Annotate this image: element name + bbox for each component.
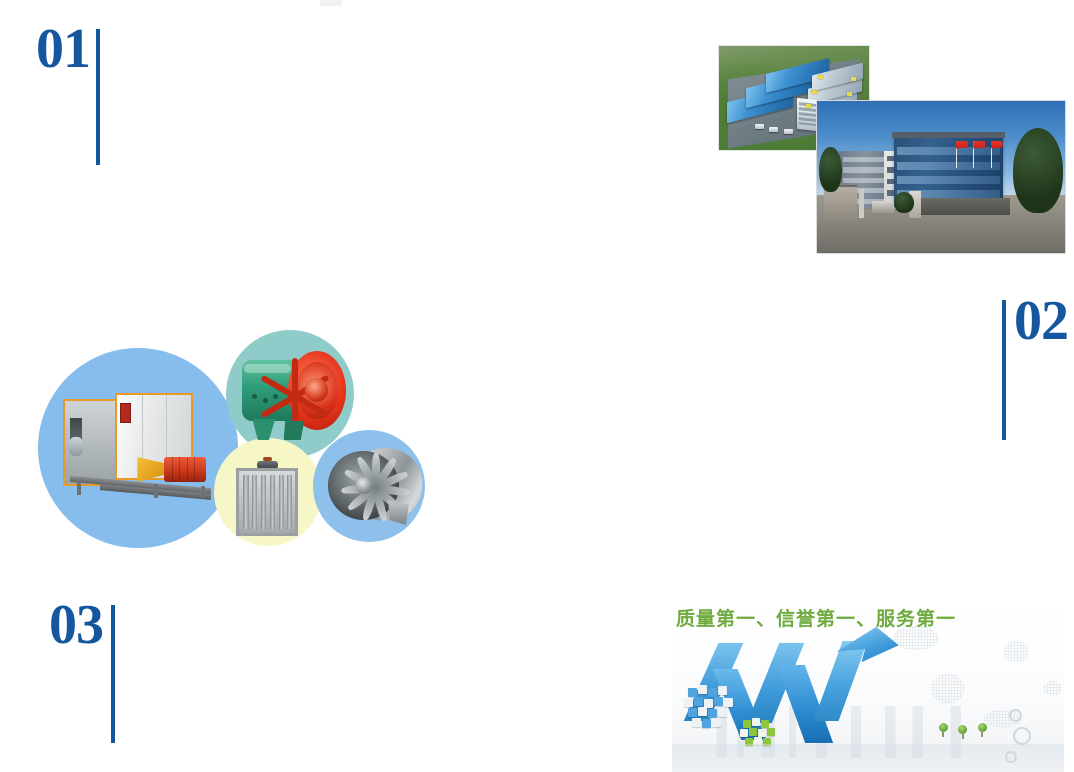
render-truck [755, 124, 764, 129]
section-rule-01 [96, 29, 100, 165]
section-number-02: 02 [1014, 296, 1068, 346]
photo-shrub [894, 192, 914, 213]
section-marker-03[interactable]: 03 [49, 600, 115, 743]
render-marker-dot [847, 92, 852, 96]
fan-motor [164, 457, 206, 482]
section-rule-03 [111, 605, 115, 743]
metal-impeller-fan[interactable] [328, 446, 422, 528]
render-marker-dot [818, 75, 823, 79]
axial-flow-fan[interactable] [242, 348, 346, 444]
render-marker-dot [851, 77, 856, 81]
section-marker-01[interactable]: 01 [36, 24, 100, 165]
quality-slogan-text: 质量第一、信誉第一、服务第一 [676, 604, 956, 631]
office-building-photo [816, 100, 1066, 254]
page-canvas: 01 02 03 [0, 0, 1074, 772]
photo-flag-2 [973, 141, 985, 149]
fan-foot [252, 419, 275, 440]
section-number-01: 01 [36, 24, 90, 74]
bubble-icon [1013, 727, 1031, 745]
section-rule-02 [1002, 300, 1006, 440]
quality-slogan-banner: 质量第一、信誉第一、服务第一 [672, 598, 1064, 772]
damper-frame [236, 468, 298, 536]
photo-gate-post [859, 189, 864, 218]
photo-tree-small [819, 147, 841, 193]
section-number-03: 03 [49, 600, 103, 650]
section-marker-02[interactable]: 02 [1002, 296, 1068, 440]
fan-control-panel [120, 403, 130, 423]
top-faint-artifact [320, 0, 342, 6]
fan-hub [305, 378, 328, 402]
photo-low-wall [916, 198, 1010, 215]
photo-vehicle [872, 201, 894, 213]
tree-icon [978, 723, 987, 737]
render-marker-dot [806, 104, 811, 108]
impeller-hub [356, 477, 372, 493]
photo-flag-1 [956, 141, 968, 149]
fan-cabinet-front [63, 399, 122, 486]
air-damper-valve[interactable] [236, 462, 298, 536]
box-type-centrifugal-fan[interactable] [60, 390, 228, 502]
render-truck [769, 127, 778, 132]
banner-reflection [672, 744, 1064, 772]
product-cluster [30, 320, 430, 560]
render-marker-dot [812, 90, 817, 94]
fan-foot [284, 421, 305, 440]
photo-flag-3 [991, 141, 1003, 149]
render-truck [784, 129, 793, 134]
tree-icon [939, 723, 948, 737]
fan-wheel [69, 437, 82, 455]
photo-tree-large [1013, 128, 1063, 213]
tree-icon [958, 725, 967, 739]
